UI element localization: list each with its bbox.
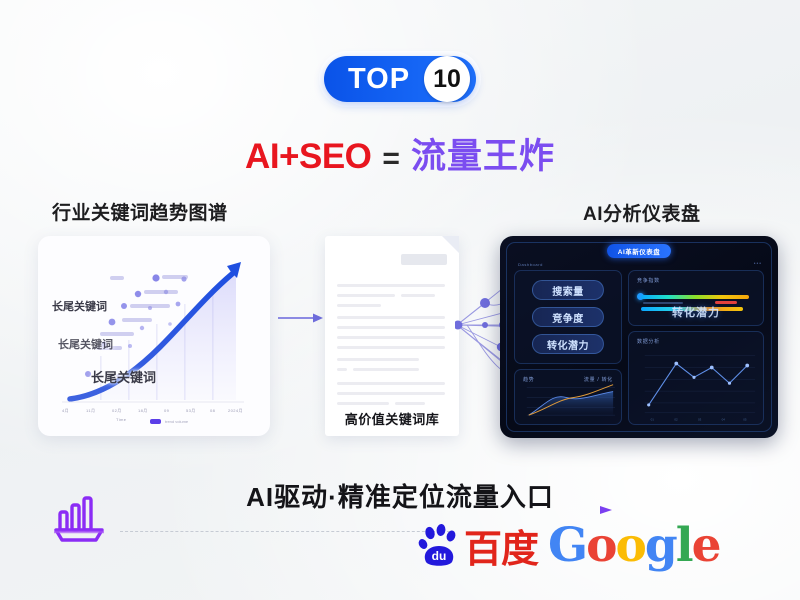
google-letter-o1: o — [586, 518, 615, 573]
keyword-trend-card: 长尾关键词 长尾关键词 长尾关键词 4月 11月 02月 18月 09 53月 … — [38, 236, 270, 436]
legend-label: trend volume — [165, 419, 188, 424]
area-chart-svg — [515, 370, 621, 425]
gauge-panel-title: 竞争指数 — [637, 277, 660, 284]
x-tick-0: 4月 — [62, 408, 69, 414]
x-tick-7: 2024月 — [228, 408, 243, 414]
x-tick-5: 53月 — [186, 408, 196, 414]
google-letter-e: e — [692, 518, 720, 573]
keyword-label-2: 长尾关键词 — [58, 336, 113, 352]
top-badge: TOP 10 — [324, 56, 476, 102]
headline-right: 流量王炸 — [411, 128, 555, 179]
google-letter-l: l — [676, 518, 692, 573]
line-chart-svg: 0102 0304 05 — [629, 332, 763, 425]
divider-dashed — [120, 531, 450, 532]
keyword-label-3: 长尾关键词 — [91, 367, 156, 386]
badge-number: 10 — [424, 56, 470, 102]
doc-header-block — [401, 254, 447, 265]
baidu-logo: du 百度 — [418, 518, 538, 573]
dashboard-menu-icon[interactable]: ••• — [754, 261, 762, 267]
google-letter-g1: G — [548, 518, 586, 573]
badge-label: TOP — [324, 56, 424, 102]
baidu-paw-icon: du — [418, 524, 462, 568]
keyword-label-1: 长尾关键词 — [52, 298, 107, 314]
baidu-wordmark: 百度 — [464, 518, 538, 573]
axis-note: Time — [116, 417, 126, 422]
baidu-du-text: du — [432, 549, 447, 563]
gauge-panel: 竞争指数 转化潜力 — [628, 270, 764, 326]
x-tick-1: 11月 — [86, 408, 95, 414]
top-badge-container: TOP 10 — [0, 56, 800, 102]
page-fold-icon — [442, 236, 459, 253]
legend-swatch-icon — [150, 419, 161, 424]
search-engine-logos: du 百度 Google — [418, 518, 720, 573]
svg-text:04: 04 — [722, 418, 726, 422]
keyword-library-document: 高价值关键词库 — [325, 236, 459, 436]
dashboard-title-pill: AI革新仪表盘 — [607, 244, 672, 258]
purple-arrow-icon — [600, 504, 616, 516]
svg-text:02: 02 — [674, 418, 678, 422]
metric-pills-panel: 搜索量 竞争度 转化潜力 — [514, 270, 622, 364]
google-letter-g2: g — [645, 518, 676, 573]
gauge-overlay-label: 转化潜力 — [629, 304, 763, 320]
doc-caption: 高价值关键词库 — [325, 409, 459, 428]
gauge-bar-primary — [641, 295, 749, 299]
metric-pill-conversion[interactable]: 转化潜力 — [532, 334, 604, 354]
ai-dashboard: AI革新仪表盘 Dashboard ••• 搜索量 竞争度 转化潜力 趋势 流量… — [500, 236, 778, 438]
page-title: AI+SEO = 流量王炸 — [0, 128, 800, 179]
metric-pill-competition[interactable]: 竞争度 — [532, 307, 604, 327]
flow-arrow-icon — [278, 312, 324, 324]
bar-chart-icon — [48, 486, 110, 548]
x-tick-3: 18月 — [138, 408, 148, 414]
bottom-tagline: AI驱动·精准定位流量入口 — [0, 477, 800, 514]
right-section-caption: AI分析仪表盘 — [583, 199, 701, 226]
dashboard-subtitle: Dashboard — [518, 262, 543, 267]
chart-legend: trend volume — [150, 419, 188, 424]
svg-text:05: 05 — [743, 418, 747, 422]
x-tick-6: 08 — [210, 408, 215, 413]
svg-text:03: 03 — [698, 418, 702, 422]
svg-text:01: 01 — [651, 418, 655, 422]
x-tick-4: 09 — [164, 408, 169, 413]
headline-equals: = — [382, 142, 400, 176]
metric-pill-search-volume[interactable]: 搜索量 — [532, 280, 604, 300]
area-chart-panel: 趋势 流量 / 转化 — [514, 369, 622, 425]
left-section-caption: 行业关键词趋势图谱 — [52, 198, 228, 225]
headline-left: AI+SEO — [245, 137, 371, 177]
google-logo: Google — [548, 522, 720, 569]
x-tick-2: 02月 — [112, 408, 122, 414]
google-letter-o2: o — [616, 518, 645, 573]
line-chart-panel: 数据分析 0102 0304 — [628, 331, 764, 425]
dashboard-header: AI革新仪表盘 — [500, 244, 778, 258]
